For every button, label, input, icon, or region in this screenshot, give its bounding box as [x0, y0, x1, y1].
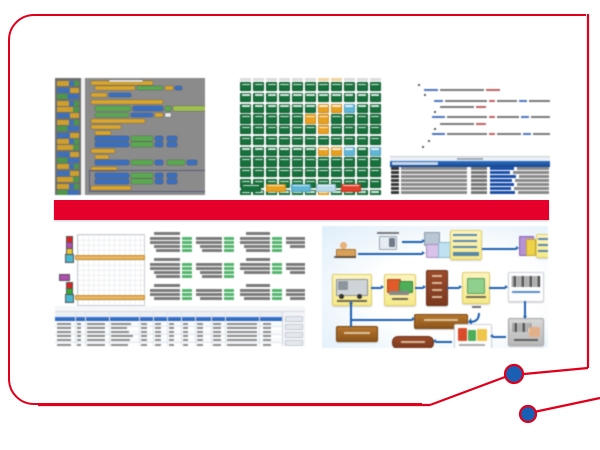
accent-circle-lower: [520, 406, 536, 422]
accent-circle-upper: [505, 365, 523, 383]
slide-canvas: [0, 0, 600, 450]
decorative-connector-graphics: [0, 0, 600, 450]
